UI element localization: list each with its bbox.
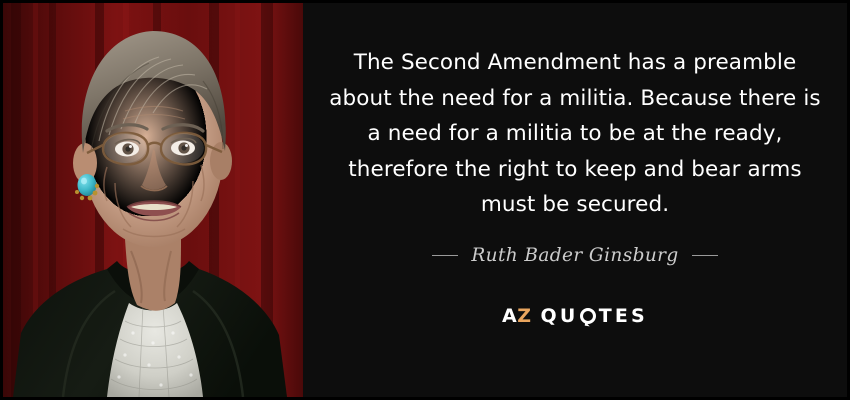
logo-word-part-2: TES — [599, 307, 648, 326]
logo-word-quotes: QU TES — [541, 307, 648, 326]
author-name: Ruth Bader Ginsburg — [471, 245, 678, 266]
logo-word-part-1: QU — [541, 307, 579, 326]
attribution: Ruth Bader Ginsburg — [432, 245, 717, 266]
azquotes-logo[interactable]: AZ QU TES — [502, 307, 648, 326]
quote-text: The Second Amendment has a preamble abou… — [325, 45, 825, 223]
logo-letter-a: A — [502, 307, 517, 326]
quote-panel: The Second Amendment has a preamble abou… — [303, 3, 847, 397]
quote-card: The Second Amendment has a preamble abou… — [0, 0, 850, 400]
portrait-image — [3, 3, 303, 397]
logo-letter-z: Z — [517, 307, 531, 326]
attribution-rule-left — [432, 255, 458, 256]
attribution-rule-right — [692, 255, 718, 256]
speech-bubble-icon — [580, 308, 596, 324]
